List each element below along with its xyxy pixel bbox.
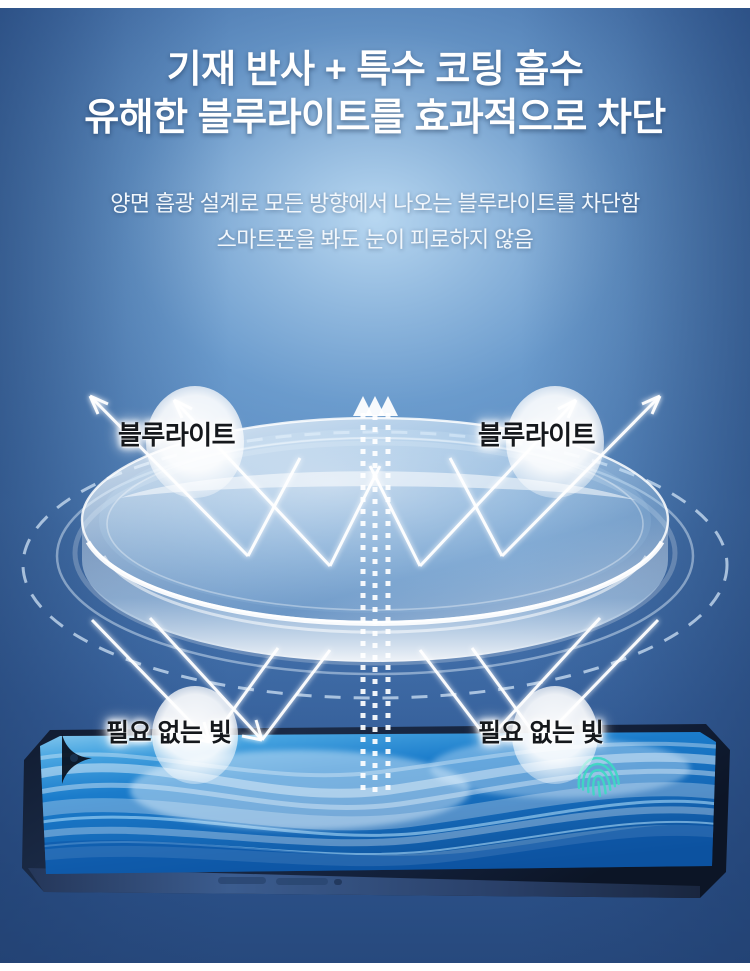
top-white-band [0,0,750,8]
optics-diagram [0,0,750,971]
diagram-label-blue-light-right: 블루라이트 [478,415,595,452]
headline-line-2: 유해한 블루라이트를 효과적으로 차단 [0,94,750,142]
infographic-canvas: 기재 반사 + 특수 코팅 흡수 유해한 블루라이트를 효과적으로 차단 양면 … [0,0,750,971]
diagram-label-useless-light-right: 필요 없는 빛 [478,713,603,749]
bottom-white-band [0,963,750,971]
diagram-label-blue-light-left: 블루라이트 [118,415,235,452]
subtitle-line-2: 스마트폰을 봐도 눈이 피로하지 않음 [0,222,750,258]
subtitle-line-1: 양면 흡광 설계로 모든 방향에서 나오는 블루라이트를 차단함 [0,186,750,222]
headline-line-1: 기재 반사 + 특수 코팅 흡수 [0,46,750,94]
headline-block: 기재 반사 + 특수 코팅 흡수 유해한 블루라이트를 효과적으로 차단 [0,46,750,142]
subtitle-block: 양면 흡광 설계로 모든 방향에서 나오는 블루라이트를 차단함 스마트폰을 봐… [0,186,750,258]
diagram-label-useless-light-left: 필요 없는 빛 [106,713,231,749]
